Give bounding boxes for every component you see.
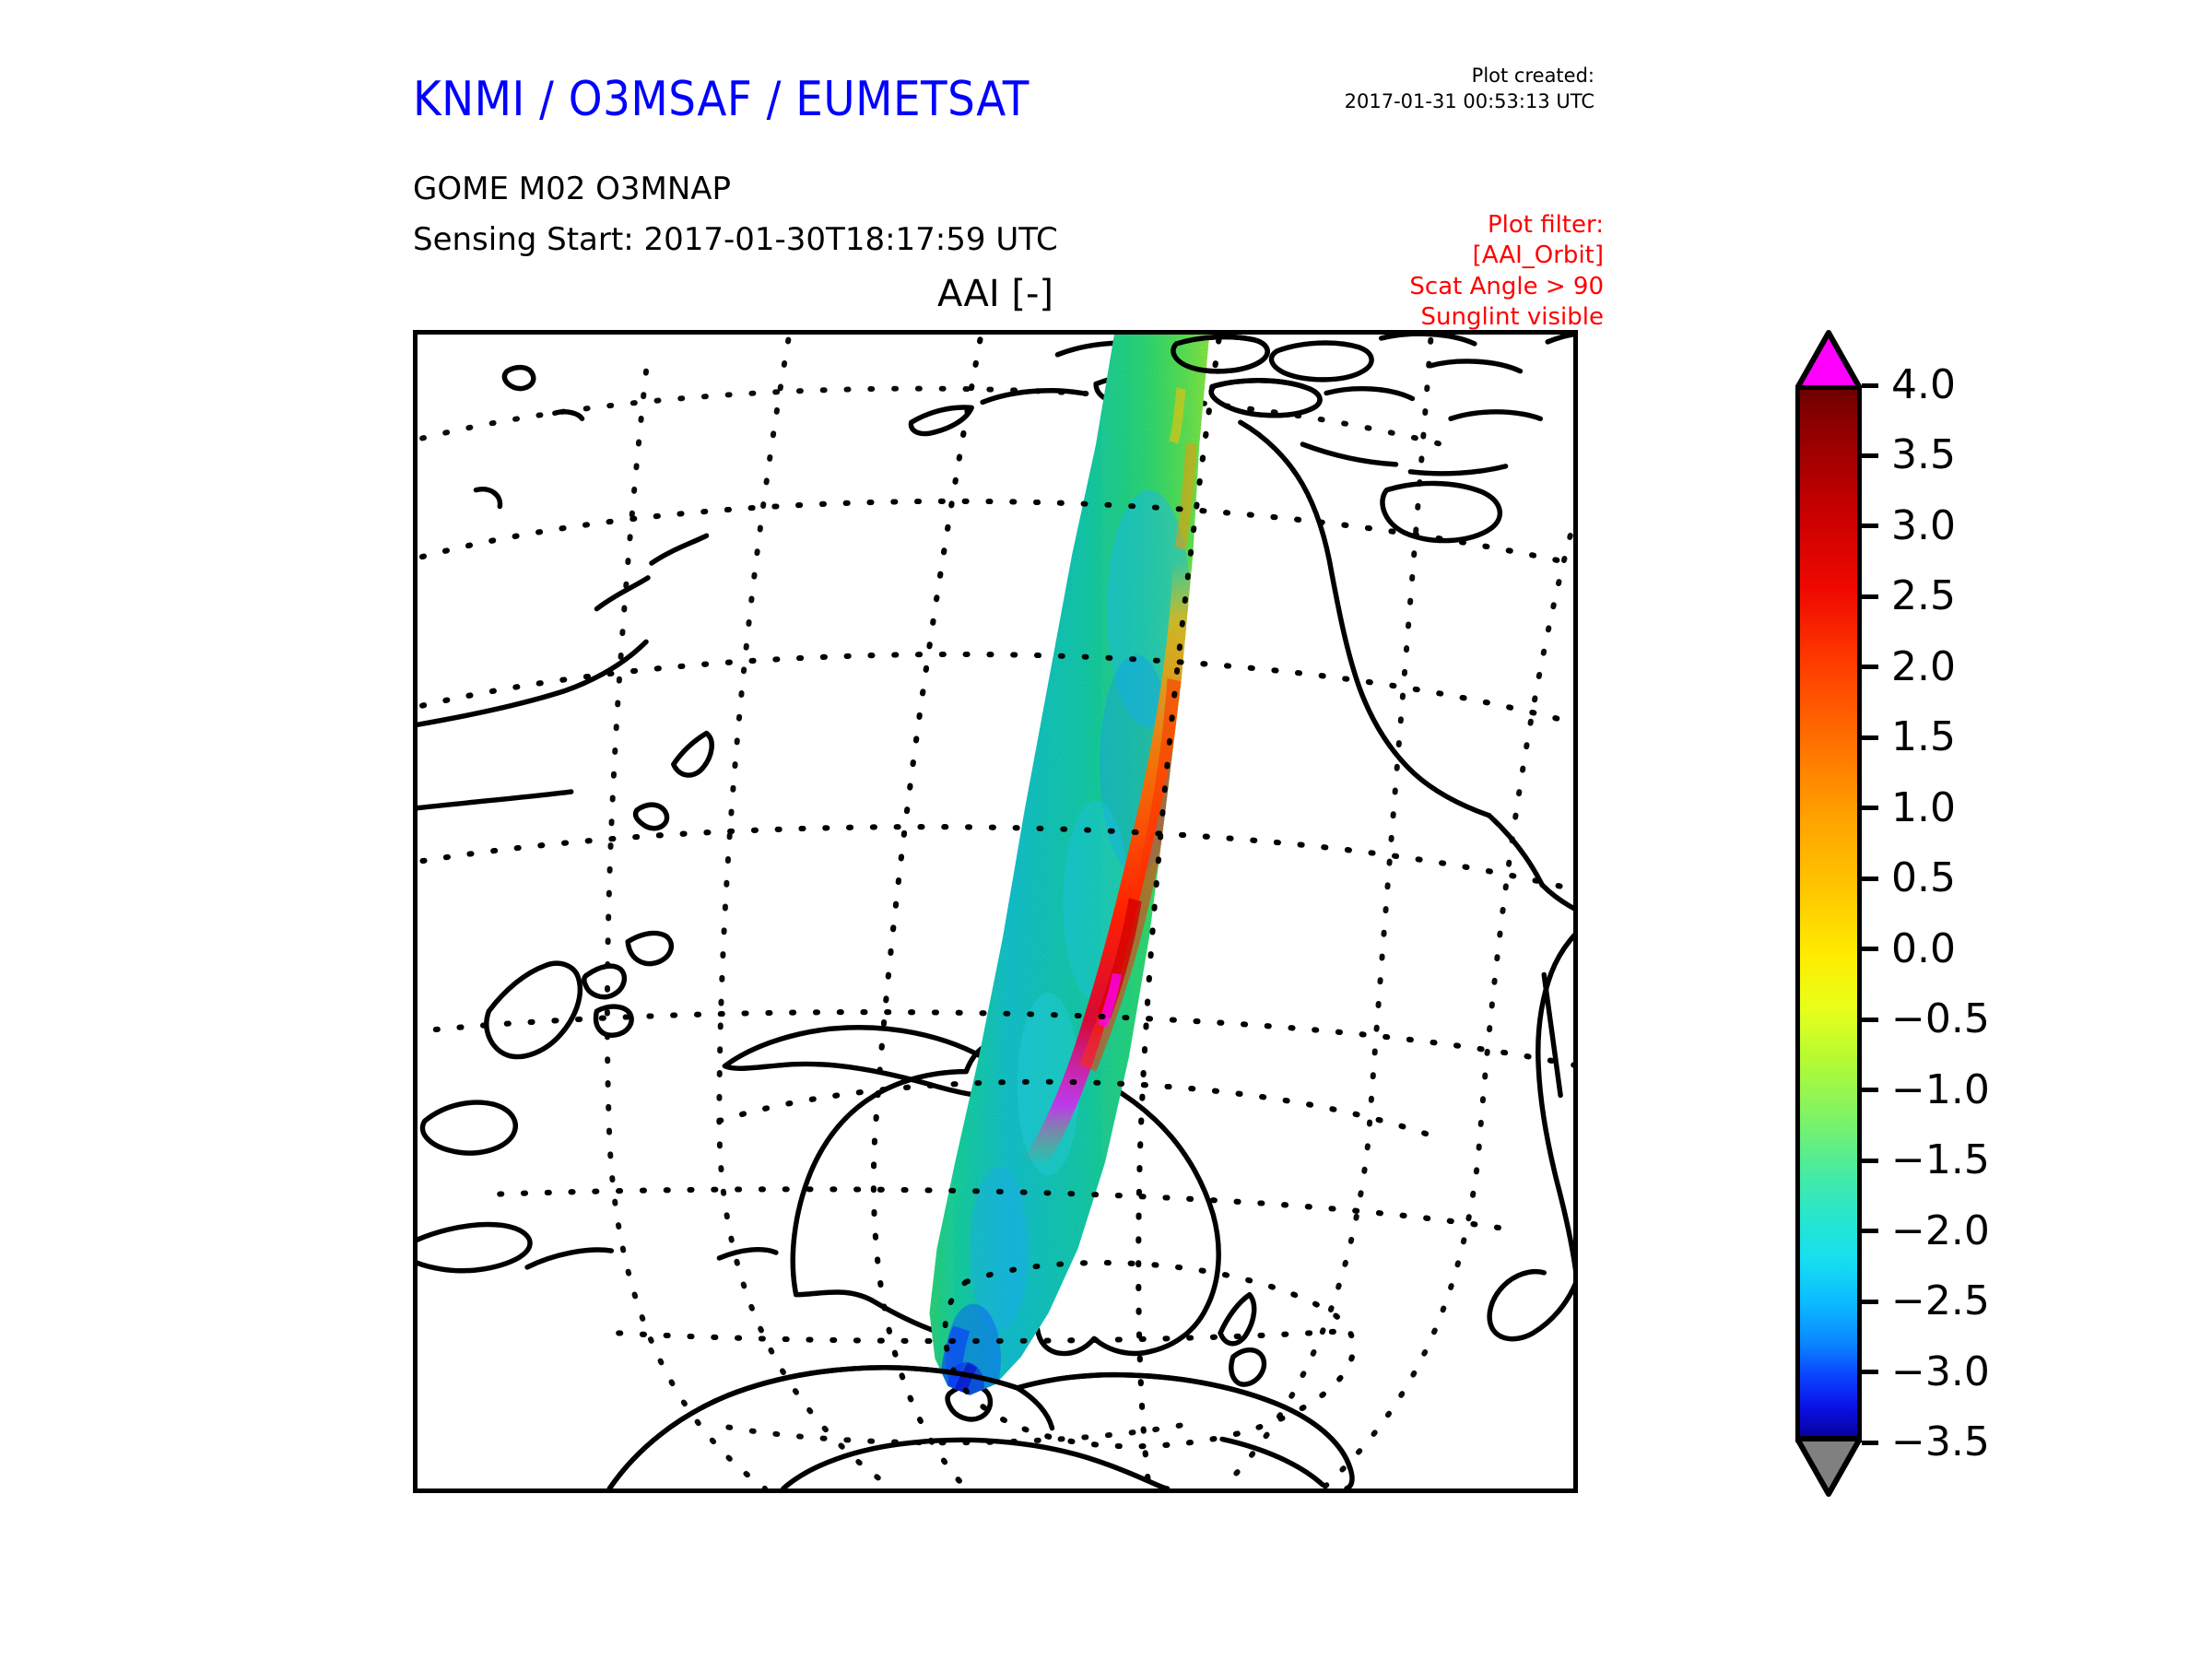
plot-created-value: 2017-01-31 00:53:13 UTC <box>1318 88 1594 114</box>
colorbar-tick-label: 3.0 <box>1891 506 1956 547</box>
colorbar-tick-label: 0.0 <box>1891 929 1956 970</box>
colorbar-tick-label: −1.5 <box>1891 1140 1990 1181</box>
colorbar-tick-label: −0.5 <box>1891 999 1990 1040</box>
colorbar-tick <box>1862 735 1878 740</box>
colorbar-tick <box>1862 1441 1878 1445</box>
colorbar-tick-label: −3.0 <box>1891 1352 1990 1393</box>
colorbar-tick-label: 1.0 <box>1891 788 1956 829</box>
colorbar-tick <box>1862 524 1878 528</box>
colorbar-gradient <box>1795 385 1862 1442</box>
colorbar-tick <box>1862 665 1878 669</box>
colorbar-under-arrow <box>1795 1436 1862 1497</box>
colorbar-tick <box>1862 453 1878 458</box>
map-plot-area <box>413 330 1578 1493</box>
colorbar-tick <box>1862 1018 1878 1022</box>
page-title: AAI [-] <box>413 273 1578 315</box>
colorbar-tick-label: 0.5 <box>1891 858 1956 899</box>
colorbar-tick <box>1862 1159 1878 1163</box>
colorbar-tick <box>1862 947 1878 951</box>
colorbar-tick-label: −2.5 <box>1891 1281 1990 1322</box>
aai-swath <box>912 335 1241 1488</box>
colorbar-tick-label: −1.0 <box>1891 1070 1990 1111</box>
colorbar-tick <box>1862 383 1878 388</box>
colorbar-tick-label: 4.0 <box>1891 365 1956 406</box>
map-canvas <box>418 335 1573 1488</box>
colorbar-tick <box>1862 806 1878 810</box>
colorbar-over-arrow <box>1795 330 1862 391</box>
plot-created-block: Plot created: 2017-01-31 00:53:13 UTC <box>1318 63 1594 115</box>
colorbar-tick-label: 3.5 <box>1891 435 1956 476</box>
product-name: GOME M02 O3MNAP <box>413 171 731 207</box>
colorbar-tick <box>1862 1088 1878 1092</box>
colorbar: 4.03.53.02.52.01.51.00.50.0−0.5−1.0−1.5−… <box>1795 330 2164 1497</box>
colorbar-tick-label: 1.5 <box>1891 717 1956 758</box>
colorbar-tick-label: −2.0 <box>1891 1211 1990 1252</box>
plot-created-label: Plot created: <box>1318 63 1594 88</box>
plot-filter-label: Plot filter: <box>1309 210 1604 241</box>
plot-filter-name: [AAI_Orbit] <box>1309 241 1604 271</box>
colorbar-tick-label: −3.5 <box>1891 1422 1990 1463</box>
colorbar-tick <box>1862 1229 1878 1233</box>
colorbar-tick <box>1862 877 1878 881</box>
colorbar-tick-label: 2.5 <box>1891 576 1956 617</box>
organisation-title: KNMI / O3MSAF / EUMETSAT <box>413 72 1030 127</box>
colorbar-tick <box>1862 1300 1878 1304</box>
colorbar-tick-label: 2.0 <box>1891 647 1956 688</box>
colorbar-tick <box>1862 1370 1878 1374</box>
sensing-start: Sensing Start: 2017-01-30T18:17:59 UTC <box>413 221 1058 258</box>
colorbar-tick <box>1862 594 1878 599</box>
